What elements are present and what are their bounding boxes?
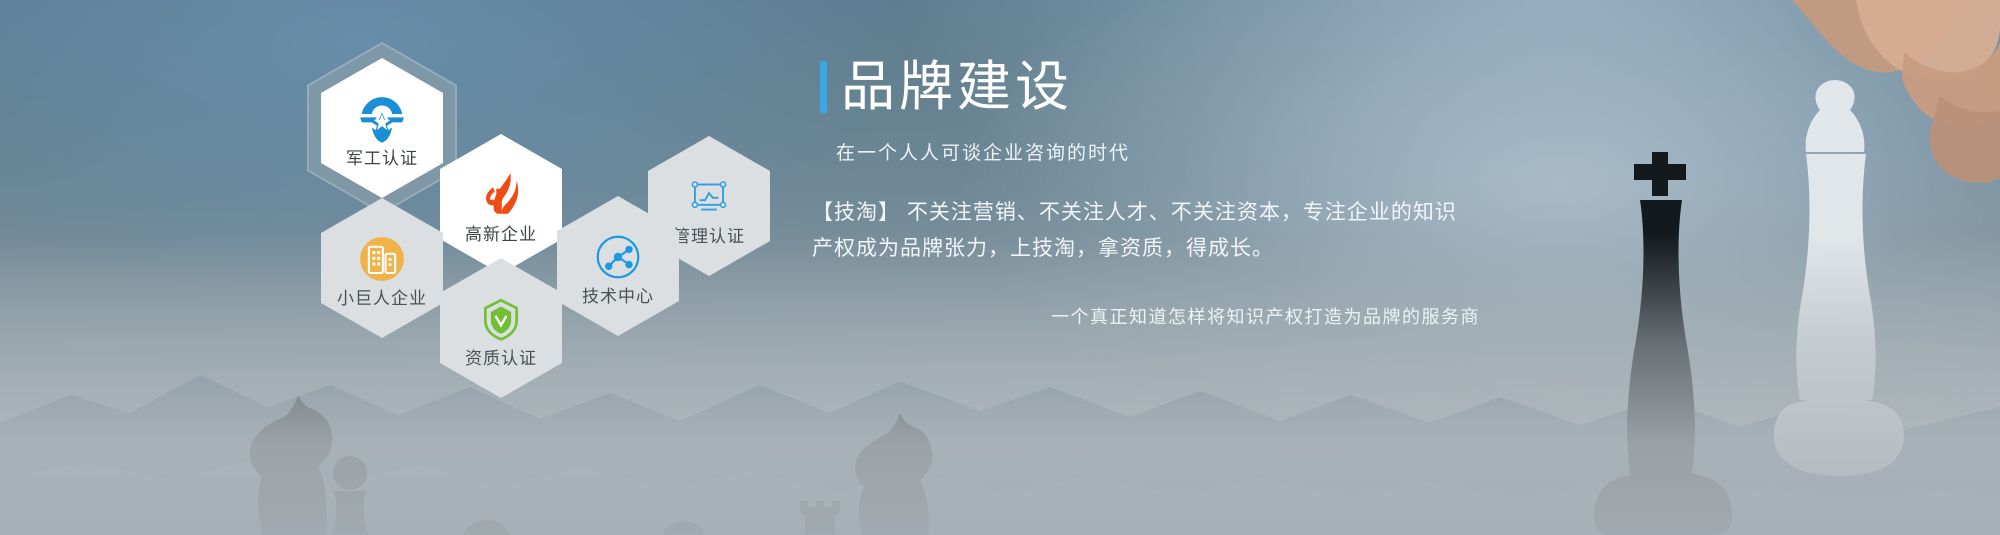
badge-little-giant-enterprise[interactable]: 小巨人企业 — [321, 198, 443, 338]
flame-wing-icon — [472, 166, 530, 224]
badge-hightech-enterprise[interactable]: 高新企业 — [440, 134, 562, 274]
title-accent-bar — [820, 61, 827, 113]
molecule-circle-icon — [589, 228, 647, 286]
banner-subtitle: 在一个人人可谈企业咨询的时代 — [836, 138, 1520, 165]
badge-label: 军工认证 — [346, 150, 418, 167]
banner-tagline: 一个真正知道怎样将知识产权打造为品牌的服务商 — [820, 303, 1480, 329]
badge-label: 管理认证 — [673, 228, 745, 245]
badge-label: 资质认证 — [465, 350, 537, 367]
military-shield-star-icon — [353, 90, 411, 148]
banner-copy: 品牌建设 在一个人人可谈企业咨询的时代 【技淘】 不关注营销、不关注人才、不关注… — [820, 60, 1520, 329]
title-text: 品牌建设 — [841, 60, 1073, 114]
page-title: 品牌建设 — [820, 60, 1520, 114]
badge-label: 高新企业 — [465, 226, 537, 243]
badge-label: 小巨人企业 — [337, 290, 427, 307]
brand-banner: 军工认证 高新企业 — [0, 0, 2000, 535]
shield-check-icon — [472, 290, 530, 348]
banner-paragraph: 【技淘】 不关注营销、不关注人才、不关注资本，专注企业的知识产权成为品牌张力，上… — [812, 195, 1472, 267]
buildings-circle-icon — [353, 230, 411, 288]
certification-badges: 军工认证 高新企业 — [300, 38, 770, 348]
chart-frame-icon — [680, 168, 738, 226]
badge-label: 技术中心 — [582, 288, 654, 305]
